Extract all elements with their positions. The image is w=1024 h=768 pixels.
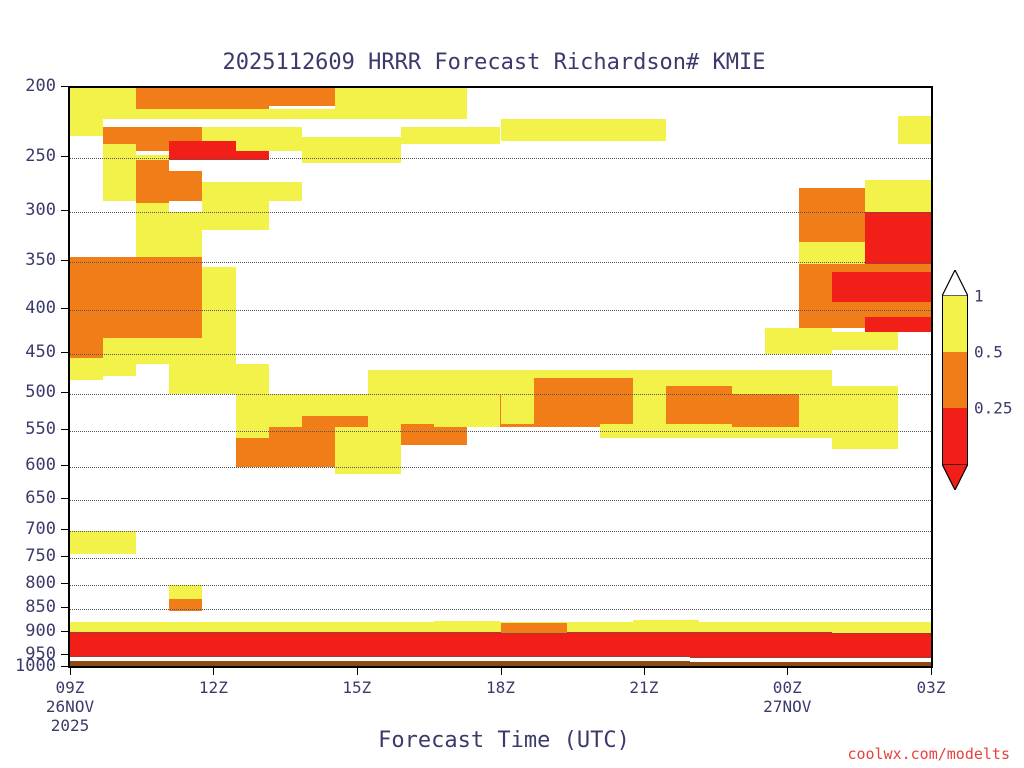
y-tick-label: 350	[25, 250, 56, 270]
y-tick-mark	[61, 631, 68, 632]
colorbar-label-05: 0.5	[974, 343, 1003, 362]
y-tick-label: 700	[25, 519, 56, 539]
heatmap-cell	[534, 378, 633, 424]
surface-line	[70, 657, 690, 661]
gridline	[70, 262, 931, 263]
chart-root: 2025112609 HRRR Forecast Richardson# KMI…	[0, 0, 1024, 768]
y-tick-mark	[61, 529, 68, 530]
y-tick-label: 450	[25, 342, 56, 362]
gridline	[70, 158, 931, 159]
heatmap-cell	[765, 328, 831, 354]
heatmap-cell	[202, 267, 235, 303]
heatmap-cell	[501, 623, 567, 633]
gridline	[70, 310, 931, 311]
heatmap-cell	[70, 113, 103, 135]
heatmap-cell	[169, 364, 268, 394]
heatmap-cell	[302, 137, 401, 163]
x-tick-label: 15Z	[342, 678, 371, 697]
y-tick-mark	[61, 210, 68, 211]
surface-line	[690, 658, 931, 662]
colorbar-tip-bottom	[942, 464, 968, 490]
heatmap-cell	[70, 88, 103, 113]
y-tick-mark	[61, 556, 68, 557]
y-tick-label: 900	[25, 621, 56, 641]
gridline	[70, 531, 931, 532]
gridline	[70, 467, 931, 468]
y-tick-mark	[61, 260, 68, 261]
y-tick-mark	[61, 666, 68, 667]
x-tick-label: 03Z	[917, 678, 946, 697]
heatmap-cell	[202, 201, 268, 230]
y-tick-label: 400	[25, 298, 56, 318]
heatmap-cell	[202, 182, 301, 201]
x-tick-mark	[931, 668, 932, 675]
heatmap-cell	[401, 127, 500, 144]
colorbar-tip-top-outline	[942, 270, 968, 296]
y-tick-mark	[61, 607, 68, 608]
y-tick-label: 250	[25, 146, 56, 166]
gridline	[70, 585, 931, 586]
colorbar-band-orange	[942, 352, 968, 408]
heatmap-cell	[865, 317, 931, 332]
heatmap-cell	[136, 163, 169, 177]
heatmap-cell	[70, 632, 931, 659]
heatmap-cell	[335, 88, 467, 109]
heatmap-cell	[136, 212, 202, 257]
y-tick-label: 1000	[15, 656, 56, 676]
x-tick-mark	[213, 668, 214, 675]
x-tick-label: 21Z	[629, 678, 658, 697]
heatmap-cell	[501, 119, 667, 141]
heatmap-cell	[832, 623, 931, 633]
x-tick-mark	[501, 668, 502, 675]
y-tick-label: 550	[25, 419, 56, 439]
heatmap-cell	[103, 310, 202, 338]
y-tick-label: 600	[25, 455, 56, 475]
x-tick-label: 00Z 27NOV	[763, 678, 811, 716]
gridline	[70, 558, 931, 559]
gridline	[70, 633, 931, 634]
colorbar-label-1: 1	[974, 287, 984, 306]
chart-title-text: 2025112609 HRRR Forecast Richardson# KMI…	[222, 50, 765, 75]
gridline	[70, 394, 931, 395]
heatmap-cell	[103, 88, 136, 96]
colorbar-band-red	[942, 408, 968, 464]
heatmap-cell	[236, 88, 335, 106]
y-tick-mark	[61, 498, 68, 499]
heatmap-cell	[70, 310, 103, 358]
heatmap-cell	[169, 350, 235, 364]
heatmap-cell	[70, 257, 202, 310]
heatmap-cell	[434, 621, 500, 631]
y-tick-mark	[61, 86, 68, 87]
heatmap-cell	[799, 242, 865, 264]
y-tick-label: 750	[25, 546, 56, 566]
heatmap-cell	[832, 386, 898, 449]
x-tick-label: 12Z	[199, 678, 228, 697]
y-tick-label: 500	[25, 382, 56, 402]
x-tick-label: 18Z	[486, 678, 515, 697]
x-tick-mark	[787, 668, 788, 675]
heatmap-cell	[732, 394, 798, 427]
colorbar: 1 0.5 0.25	[942, 296, 968, 464]
y-tick-label: 850	[25, 597, 56, 617]
y-tick-mark	[61, 465, 68, 466]
gridline	[70, 656, 931, 657]
gridline	[70, 354, 931, 355]
gridline	[70, 212, 931, 213]
y-tick-mark	[61, 156, 68, 157]
heatmap-cell	[633, 620, 699, 630]
heatmap-cell	[832, 272, 931, 303]
heatmap-cell	[136, 109, 467, 119]
gridline	[70, 609, 931, 610]
y-tick-mark	[61, 308, 68, 309]
plot-area	[68, 86, 933, 668]
gridline	[70, 500, 931, 501]
heatmap-cell	[70, 358, 103, 380]
colorbar-band-yellow	[942, 296, 968, 352]
colorbar-label-025: 0.25	[974, 399, 1013, 418]
y-tick-mark	[61, 583, 68, 584]
heatmap-cell	[799, 188, 865, 242]
y-tick-label: 300	[25, 200, 56, 220]
y-tick-mark	[61, 392, 68, 393]
heatmap-cell	[666, 386, 732, 424]
y-tick-mark	[61, 429, 68, 430]
heatmap-cells	[70, 88, 931, 666]
y-tick-label: 200	[25, 76, 56, 96]
y-tick-mark	[61, 352, 68, 353]
y-tick-label: 650	[25, 488, 56, 508]
heatmap-cell	[898, 116, 931, 144]
chart-title: 2025112609 HRRR Forecast Richardson# KMI…	[0, 50, 1024, 75]
y-tick-mark	[61, 654, 68, 655]
x-tick-label: 09Z 26NOV 2025	[46, 678, 94, 735]
y-tick-label: 800	[25, 573, 56, 593]
gridline	[70, 431, 931, 432]
credit-text: coolwx.com/modelts	[847, 745, 1010, 763]
heatmap-cell	[103, 531, 136, 554]
heatmap-cell	[865, 180, 931, 212]
heatmap-cell	[70, 531, 103, 554]
heatmap-cell	[236, 438, 269, 467]
x-axis-label-text: Forecast Time (UTC)	[378, 728, 630, 753]
heatmap-cell	[103, 171, 136, 201]
x-tick-mark	[644, 668, 645, 675]
heatmap-cell	[865, 212, 931, 232]
x-tick-mark	[70, 668, 71, 675]
x-tick-mark	[357, 668, 358, 675]
